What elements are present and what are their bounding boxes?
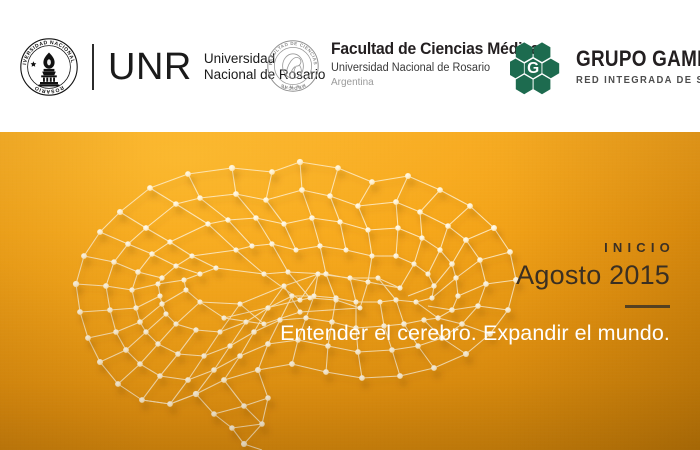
svg-text:FACULTAD DE CIENCIAS: FACULTAD DE CIENCIAS — [268, 41, 318, 65]
facultad-seal-icon: FACULTAD DE CIENCIAS MEDICAS U.N.R — [266, 38, 320, 96]
grupo-gamma-title: GRUPO GAMMA — [576, 47, 700, 71]
hero-date-block: INICIO Agosto 2015 — [516, 240, 670, 308]
facultad-seal-bottom-text: U.N.R. — [283, 84, 303, 89]
hero-tagline: Entender el cerebro. Expandir el mundo. — [280, 320, 670, 346]
logo-bar: UNIVERSIDAD NACIONAL DE ROSARIO — [0, 0, 700, 132]
hero-section: INICIO Agosto 2015 Entender el cerebro. … — [0, 132, 700, 450]
grupo-gamma-monogram: G — [527, 60, 539, 77]
unr-divider — [92, 44, 94, 90]
hero-rule-divider — [625, 305, 670, 308]
grupo-gamma-hexagon-icon: G — [510, 38, 566, 96]
hero-start-date: Agosto 2015 — [516, 259, 670, 291]
logo-grupo-gamma: G GRUPO GAMMA RED INTEGRADA DE SALUD — [510, 38, 700, 96]
hero-kicker: INICIO — [516, 240, 675, 255]
grupo-gamma-wordmark: GRUPO GAMMA RED INTEGRADA DE SALUD — [576, 47, 700, 87]
grupo-gamma-subtitle: RED INTEGRADA DE SALUD — [576, 74, 700, 87]
course-banner: UNIVERSIDAD NACIONAL DE ROSARIO — [0, 0, 700, 450]
unr-seal-icon: UNIVERSIDAD NACIONAL DE ROSARIO — [18, 36, 80, 98]
unr-acronym: UNR — [108, 48, 192, 86]
